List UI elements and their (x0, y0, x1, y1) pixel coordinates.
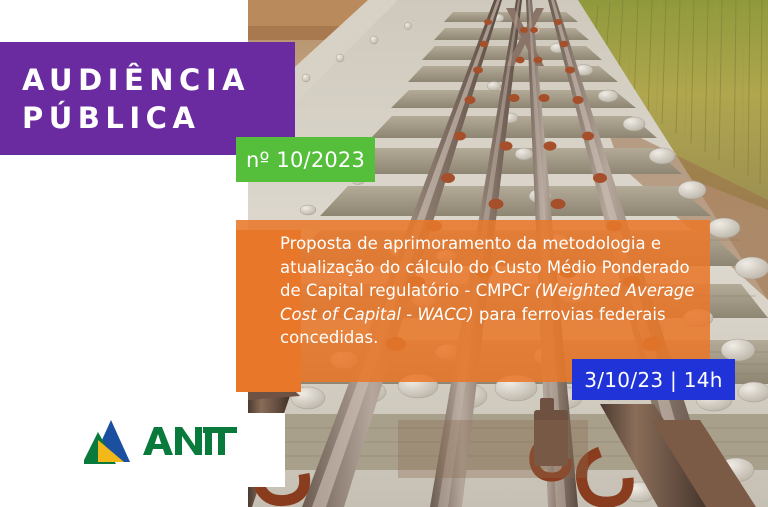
antt-logo (84, 418, 237, 466)
subject-block: Proposta de aprimoramento da metodologia… (236, 220, 710, 382)
headline-line-1: AUDIÊNCIA (22, 61, 295, 99)
hearing-number-label: nº 10/2023 (246, 148, 365, 172)
date-time-badge: 3/10/23 | 14h (572, 359, 735, 400)
public-hearing-poster: AUDIÊNCIA PÚBLICA nº 10/2023 Proposta de… (0, 0, 768, 507)
subject-text: Proposta de aprimoramento da metodologia… (280, 232, 700, 350)
antt-triangle-mark-icon (84, 418, 138, 466)
photo-corner-notch (248, 413, 285, 487)
date-time-label: 3/10/23 | 14h (584, 368, 723, 392)
headline-line-2: PÚBLICA (22, 99, 295, 137)
antt-wordmark (141, 425, 237, 459)
hearing-number-badge: nº 10/2023 (236, 137, 375, 182)
